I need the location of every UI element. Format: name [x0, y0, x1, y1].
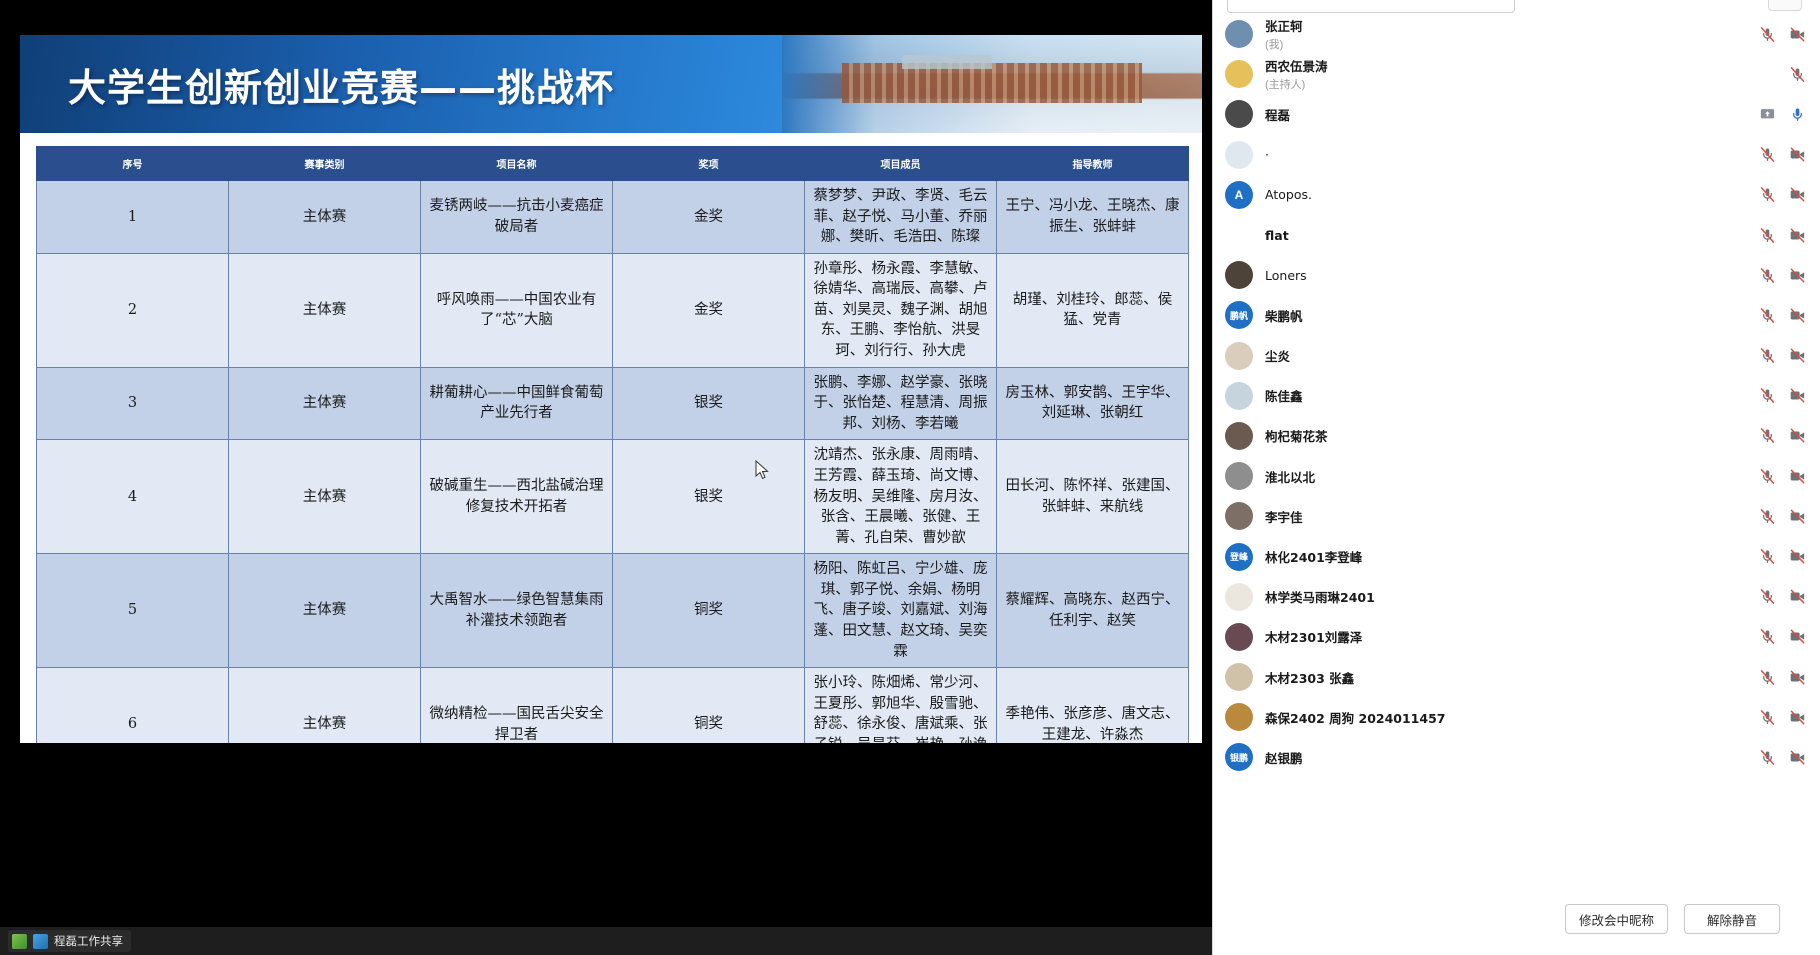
- participant-controls: [1759, 347, 1806, 364]
- participant-row[interactable]: 淮北以北: [1213, 456, 1820, 496]
- avatar: [1225, 502, 1253, 530]
- participant-name: 陈佳鑫: [1265, 386, 1751, 405]
- cell-category: 主体赛: [229, 554, 421, 668]
- cell-teachers: 胡瑾、刘桂玲、郎蕊、侯猛、党青: [997, 253, 1189, 367]
- participant-controls: [1759, 227, 1806, 244]
- mic-muted-icon[interactable]: [1759, 669, 1776, 686]
- app-icon: [33, 934, 48, 949]
- cell-teachers: 王宁、冯小龙、王晓杰、康振生、张蚌蚌: [997, 181, 1189, 254]
- panel-footer: 修改会中昵称 解除静音: [1213, 883, 1820, 955]
- col-header-index: 序号: [37, 147, 229, 181]
- mic-muted-icon[interactable]: [1759, 387, 1776, 404]
- participant-row[interactable]: 林学类马雨琳2401: [1213, 577, 1820, 617]
- table-row: 3主体赛耕葡耕心——中国鲜食葡萄产业先行者银奖张鹏、李娜、赵学豪、张晓于、张怡楚…: [37, 367, 1189, 440]
- table-row: 1主体赛麦锈两岐——抗击小麦癌症破局者金奖蔡梦梦、尹政、李贤、毛云菲、赵子悦、马…: [37, 181, 1189, 254]
- avatar: [1225, 100, 1253, 128]
- avatar: [1225, 20, 1253, 48]
- table-row: 6主体赛微纳精检——国民舌尖安全捍卫者铜奖张小玲、陈畑烯、常少河、王夏彤、郭旭华…: [37, 668, 1189, 743]
- cell-index: 6: [37, 668, 229, 743]
- cell-category: 主体赛: [229, 668, 421, 743]
- mic-muted-icon[interactable]: [1759, 146, 1776, 163]
- mic-muted-icon[interactable]: [1759, 468, 1776, 485]
- camera-off-icon[interactable]: [1789, 548, 1806, 565]
- participant-row[interactable]: 枸杞菊花茶: [1213, 416, 1820, 456]
- avatar: [1225, 382, 1253, 410]
- cell-index: 4: [37, 440, 229, 554]
- participant-row[interactable]: 西农伍景涛(主持人): [1213, 54, 1820, 94]
- cell-award: 金奖: [613, 181, 805, 254]
- participants-panel: 张正轲(我)西农伍景涛(主持人)程磊·AAtopos.flatLoners鹏帆柴…: [1212, 0, 1820, 955]
- participant-name: 柴鹏帆: [1265, 306, 1751, 325]
- participant-controls: [1759, 186, 1806, 203]
- participant-controls: [1759, 628, 1806, 645]
- participant-controls: [1789, 66, 1806, 83]
- col-header-category: 赛事类别: [229, 147, 421, 181]
- mouse-cursor-icon: [755, 460, 769, 480]
- screen-share-icon[interactable]: [1759, 106, 1776, 123]
- mic-muted-icon[interactable]: [1759, 186, 1776, 203]
- cell-award: 铜奖: [613, 554, 805, 668]
- rename-button[interactable]: 修改会中昵称: [1565, 904, 1668, 934]
- participant-name: 西农伍景涛: [1265, 56, 1781, 75]
- cell-category: 主体赛: [229, 253, 421, 367]
- mic-muted-icon[interactable]: [1759, 548, 1776, 565]
- participant-name: 森保2402 周狗 2024011457: [1265, 708, 1751, 727]
- camera-off-icon[interactable]: [1789, 588, 1806, 605]
- mic-muted-icon[interactable]: [1759, 307, 1776, 324]
- participant-name: 枸杞菊花茶: [1265, 426, 1751, 445]
- cell-project: 破碱重生——西北盐碱治理修复技术开拓者: [421, 440, 613, 554]
- participant-name: 程磊: [1265, 105, 1751, 124]
- campus-photo: [782, 35, 1202, 133]
- avatar: A: [1225, 181, 1253, 209]
- camera-off-icon[interactable]: [1789, 387, 1806, 404]
- camera-off-icon[interactable]: [1789, 26, 1806, 43]
- avatar: [1225, 60, 1253, 88]
- cell-teachers: 田长河、陈怀祥、张建国、张蚌蚌、来航线: [997, 440, 1189, 554]
- cell-teachers: 蔡耀辉、高晓东、赵西宁、任利宇、赵笑: [997, 554, 1189, 668]
- camera-off-icon[interactable]: [1789, 427, 1806, 444]
- participant-row[interactable]: 程磊: [1213, 94, 1820, 134]
- camera-off-icon[interactable]: [1789, 227, 1806, 244]
- cell-members: 孙章彤、杨永霞、李慧敏、徐婧华、高瑞辰、高攀、卢苗、刘昊灵、魏子渊、胡旭东、王鹏…: [805, 253, 997, 367]
- cell-index: 3: [37, 367, 229, 440]
- cell-project: 大禹智水——绿色智慧集雨补灌技术领跑者: [421, 554, 613, 668]
- participant-name: Atopos.: [1265, 187, 1751, 202]
- participant-role: (我): [1265, 36, 1751, 52]
- cell-index: 5: [37, 554, 229, 668]
- cell-project: 麦锈两岐——抗击小麦癌症破局者: [421, 181, 613, 254]
- cell-index: 1: [37, 181, 229, 254]
- participant-row[interactable]: 陈佳鑫: [1213, 376, 1820, 416]
- mic-muted-icon[interactable]: [1759, 26, 1776, 43]
- cell-award: 金奖: [613, 253, 805, 367]
- participant-controls: [1759, 749, 1806, 766]
- col-header-members: 项目成员: [805, 147, 997, 181]
- participant-controls: [1759, 267, 1806, 284]
- camera-off-icon[interactable]: [1789, 267, 1806, 284]
- cell-project: 微纳精检——国民舌尖安全捍卫者: [421, 668, 613, 743]
- avatar: [1225, 583, 1253, 611]
- slide-title: 大学生创新创业竞赛——挑战杯: [68, 57, 614, 112]
- cell-project: 耕葡耕心——中国鲜食葡萄产业先行者: [421, 367, 613, 440]
- mic-muted-icon[interactable]: [1759, 347, 1776, 364]
- participant-controls: [1759, 588, 1806, 605]
- participant-name: 木材2303 张鑫: [1265, 668, 1751, 687]
- col-header-award: 奖项: [613, 147, 805, 181]
- slide-body: 序号 赛事类别 项目名称 奖项 项目成员 指导教师 1主体赛麦锈两岐——抗击小麦…: [20, 133, 1202, 743]
- taskbar-share-chip[interactable]: 程磊工作共享: [8, 930, 131, 952]
- mic-muted-icon[interactable]: [1759, 588, 1776, 605]
- search-input[interactable]: [1227, 0, 1515, 13]
- camera-off-icon[interactable]: [1789, 307, 1806, 324]
- unmute-button[interactable]: 解除静音: [1684, 904, 1780, 934]
- participant-name: 张正轲: [1265, 16, 1751, 35]
- participant-controls: [1759, 709, 1806, 726]
- screen-share-icon: [12, 934, 27, 949]
- table-row: 2主体赛呼风唤雨——中国农业有了“芯”大脑金奖孙章彤、杨永霞、李慧敏、徐婧华、高…: [37, 253, 1189, 367]
- participant-controls: [1759, 508, 1806, 525]
- mic-muted-icon[interactable]: [1759, 267, 1776, 284]
- participant-name: 淮北以北: [1265, 467, 1751, 486]
- table-head: 序号 赛事类别 项目名称 奖项 项目成员 指导教师: [37, 147, 1189, 181]
- participant-row[interactable]: 森保2402 周狗 2024011457: [1213, 697, 1820, 737]
- avatar: [1225, 663, 1253, 691]
- avatar: 登峰: [1225, 543, 1253, 571]
- cell-project: 呼风唤雨——中国农业有了“芯”大脑: [421, 253, 613, 367]
- participant-row[interactable]: 银鹏赵银鹏: [1213, 737, 1820, 777]
- cell-teachers: 季艳伟、张彦彦、唐文志、王建龙、许淼杰: [997, 668, 1189, 743]
- participant-controls: [1759, 427, 1806, 444]
- cell-award: 银奖: [613, 367, 805, 440]
- camera-off-icon[interactable]: [1789, 709, 1806, 726]
- camera-off-icon[interactable]: [1789, 468, 1806, 485]
- cell-category: 主体赛: [229, 181, 421, 254]
- mic-muted-icon[interactable]: [1759, 508, 1776, 525]
- camera-off-icon[interactable]: [1789, 669, 1806, 686]
- cell-award: 铜奖: [613, 668, 805, 743]
- cell-teachers: 房玉林、郭安鹊、王宇华、刘延琳、张朝红: [997, 367, 1189, 440]
- avatar: [1225, 623, 1253, 651]
- participant-row[interactable]: 木材2303 张鑫: [1213, 657, 1820, 697]
- participant-controls: [1759, 669, 1806, 686]
- table-body: 1主体赛麦锈两岐——抗击小麦癌症破局者金奖蔡梦梦、尹政、李贤、毛云菲、赵子悦、马…: [37, 181, 1189, 744]
- participant-controls: [1759, 387, 1806, 404]
- camera-off-icon[interactable]: [1789, 628, 1806, 645]
- participant-row[interactable]: 李宇佳: [1213, 496, 1820, 536]
- cell-members: 蔡梦梦、尹政、李贤、毛云菲、赵子悦、马小董、乔丽娜、樊昕、毛浩田、陈璨: [805, 181, 997, 254]
- cell-members: 张鹏、李娜、赵学豪、张晓于、张怡楚、程慧清、周振邦、刘杨、李若曦: [805, 367, 997, 440]
- participant-row[interactable]: 鹏帆柴鹏帆: [1213, 295, 1820, 335]
- participant-controls: [1759, 146, 1806, 163]
- participant-controls: [1759, 106, 1806, 123]
- participant-name: flat: [1265, 228, 1751, 243]
- participant-controls: [1759, 26, 1806, 43]
- avatar: [1225, 342, 1253, 370]
- avatar: 银鹏: [1225, 743, 1253, 771]
- participant-name: 李宇佳: [1265, 507, 1751, 526]
- taskbar-label: 程磊工作共享: [54, 933, 123, 949]
- participant-name: ·: [1265, 147, 1751, 162]
- avatar: [1225, 141, 1253, 169]
- mic-muted-icon[interactable]: [1789, 66, 1806, 83]
- table-row: 4主体赛破碱重生——西北盐碱治理修复技术开拓者银奖沈靖杰、张永康、周雨晴、王芳霞…: [37, 440, 1189, 554]
- mic-muted-icon[interactable]: [1759, 749, 1776, 766]
- participant-controls: [1759, 548, 1806, 565]
- participant-role: (主持人): [1265, 76, 1781, 92]
- participant-name: 尘炎: [1265, 346, 1751, 365]
- meeting-window: 大学生创新创业竞赛——挑战杯 序号 赛事类别 项目名称 奖项 项目成员 指导教师: [0, 0, 1820, 955]
- panel-options-button[interactable]: [1768, 0, 1802, 11]
- mic-muted-icon[interactable]: [1759, 628, 1776, 645]
- avatar: [1225, 462, 1253, 490]
- participant-controls: [1759, 307, 1806, 324]
- mic-muted-icon[interactable]: [1759, 227, 1776, 244]
- mic-on-icon[interactable]: [1789, 106, 1806, 123]
- slide-banner: 大学生创新创业竞赛——挑战杯: [20, 35, 1202, 133]
- camera-off-icon[interactable]: [1789, 146, 1806, 163]
- cell-award: 银奖: [613, 440, 805, 554]
- avatar: [1225, 422, 1253, 450]
- avatar: [1225, 703, 1253, 731]
- taskbar: 程磊工作共享: [0, 927, 1212, 955]
- cell-category: 主体赛: [229, 440, 421, 554]
- avatar: [1225, 221, 1253, 249]
- col-header-teachers: 指导教师: [997, 147, 1189, 181]
- participant-list[interactable]: 张正轲(我)西农伍景涛(主持人)程磊·AAtopos.flatLoners鹏帆柴…: [1213, 14, 1820, 883]
- participant-row[interactable]: Loners: [1213, 255, 1820, 295]
- cell-category: 主体赛: [229, 367, 421, 440]
- participant-name: 林学类马雨琳2401: [1265, 587, 1751, 606]
- search-row: [1227, 0, 1806, 14]
- cell-index: 2: [37, 253, 229, 367]
- participant-row[interactable]: AAtopos.: [1213, 175, 1820, 215]
- participant-row[interactable]: 尘炎: [1213, 336, 1820, 376]
- cell-members: 杨阳、陈虹吕、宁少雄、庞琪、郭子悦、余娟、杨明飞、唐子竣、刘嘉斌、刘海蓬、田文慧…: [805, 554, 997, 668]
- camera-off-icon[interactable]: [1789, 347, 1806, 364]
- avatar: [1225, 261, 1253, 289]
- camera-off-icon[interactable]: [1789, 508, 1806, 525]
- screen-share-area: 大学生创新创业竞赛——挑战杯 序号 赛事类别 项目名称 奖项 项目成员 指导教师: [0, 0, 1212, 955]
- participant-name: Loners: [1265, 268, 1751, 283]
- camera-off-icon[interactable]: [1789, 186, 1806, 203]
- award-table: 序号 赛事类别 项目名称 奖项 项目成员 指导教师 1主体赛麦锈两岐——抗击小麦…: [36, 146, 1189, 743]
- camera-off-icon[interactable]: [1789, 749, 1806, 766]
- participant-row[interactable]: 木材2301刘露泽: [1213, 617, 1820, 657]
- participant-row[interactable]: ·: [1213, 135, 1820, 175]
- table-row: 5主体赛大禹智水——绿色智慧集雨补灌技术领跑者铜奖杨阳、陈虹吕、宁少雄、庞琪、郭…: [37, 554, 1189, 668]
- participant-row[interactable]: flat: [1213, 215, 1820, 255]
- participant-row[interactable]: 登峰林化2401李登峰: [1213, 536, 1820, 576]
- participant-name: 林化2401李登峰: [1265, 547, 1751, 566]
- shared-slide[interactable]: 大学生创新创业竞赛——挑战杯 序号 赛事类别 项目名称 奖项 项目成员 指导教师: [20, 35, 1202, 743]
- cell-members: 沈靖杰、张永康、周雨晴、王芳霞、薛玉琦、尚文博、杨友明、吴维隆、房月汝、张含、王…: [805, 440, 997, 554]
- table-header-row: 序号 赛事类别 项目名称 奖项 项目成员 指导教师: [37, 147, 1189, 181]
- participant-controls: [1759, 468, 1806, 485]
- cell-members: 张小玲、陈畑烯、常少河、王夏彤、郭旭华、殷雪驰、舒蕊、徐永俊、唐斌乘、张子锐、吴…: [805, 668, 997, 743]
- participant-name: 赵银鹏: [1265, 748, 1751, 767]
- mic-muted-icon[interactable]: [1759, 427, 1776, 444]
- mic-muted-icon[interactable]: [1759, 709, 1776, 726]
- participant-name: 木材2301刘露泽: [1265, 627, 1751, 646]
- participant-row[interactable]: 张正轲(我): [1213, 14, 1820, 54]
- avatar: 鹏帆: [1225, 301, 1253, 329]
- col-header-project: 项目名称: [421, 147, 613, 181]
